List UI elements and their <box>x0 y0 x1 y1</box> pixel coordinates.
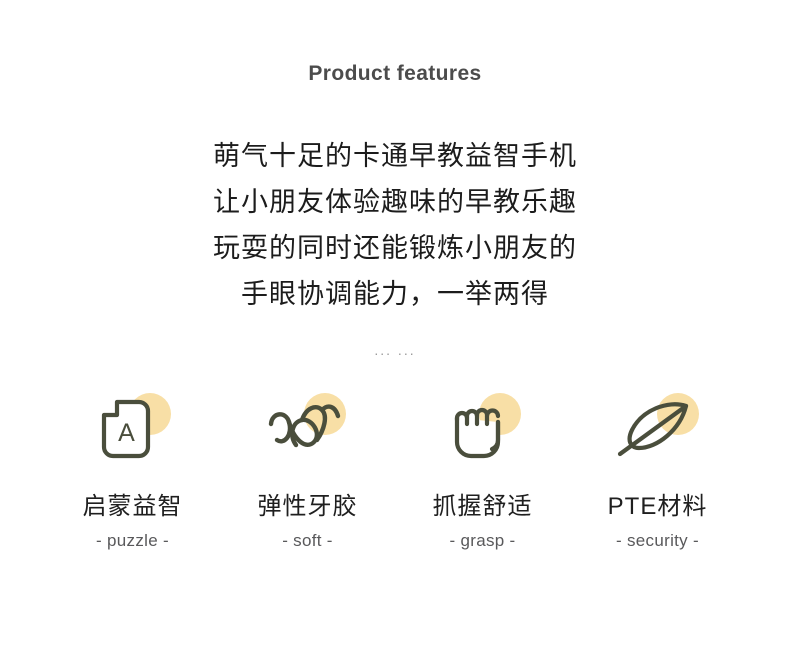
feature-title: 启蒙益智 <box>83 494 183 520</box>
description-block: 萌气十足的卡通早教益智手机 让小朋友体验趣味的早教乐趣 玩耍的同时还能锻炼小朋友… <box>0 133 790 317</box>
leaf-icon <box>612 390 704 462</box>
description-line-3: 玩耍的同时还能锻炼小朋友的 <box>0 225 790 271</box>
feature-subtitle: - grasp - <box>450 531 516 551</box>
description-line-4: 手眼协调能力，一举两得 <box>0 271 790 317</box>
ellipsis-divider: ... ... <box>0 342 790 358</box>
feature-title: 抓握舒适 <box>433 494 533 520</box>
spring-squiggle-icon <box>262 390 354 462</box>
feature-item-security: PTE材料 - security - <box>570 390 745 551</box>
feature-title: PTE材料 <box>608 494 708 520</box>
feature-subtitle: - soft - <box>282 531 333 551</box>
feature-item-puzzle: A 启蒙益智 - puzzle - <box>45 390 220 551</box>
feature-subtitle: - security - <box>616 531 699 551</box>
product-features-page: Product features 萌气十足的卡通早教益智手机 让小朋友体验趣味的… <box>0 0 790 648</box>
page-title: Product features <box>0 62 790 86</box>
description-line-2: 让小朋友体验趣味的早教乐趣 <box>0 179 790 225</box>
feature-list: A 启蒙益智 - puzzle - 弹性牙胶 - so <box>45 390 745 551</box>
feature-subtitle: - puzzle - <box>96 531 169 551</box>
description-line-1: 萌气十足的卡通早教益智手机 <box>0 133 790 179</box>
feature-title: 弹性牙胶 <box>258 494 358 520</box>
puzzle-card-a-icon: A <box>87 390 179 462</box>
feature-item-grasp: 抓握舒适 - grasp - <box>395 390 570 551</box>
feature-item-soft: 弹性牙胶 - soft - <box>220 390 395 551</box>
grasping-hand-icon <box>437 390 529 462</box>
svg-text:A: A <box>118 419 135 447</box>
